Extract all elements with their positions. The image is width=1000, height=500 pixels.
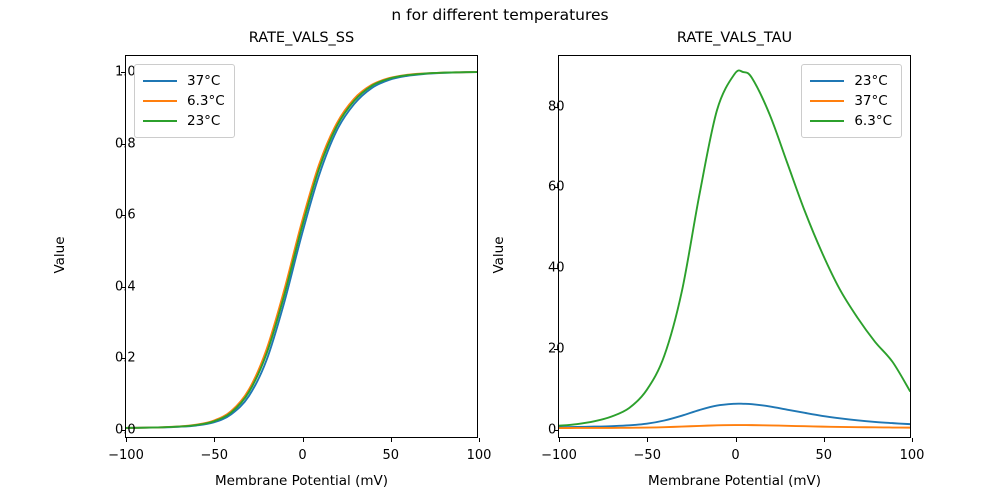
legend-entry[interactable]: 37°C: [810, 91, 892, 111]
x-tick: [303, 438, 304, 442]
legend-entry[interactable]: 6.3°C: [810, 111, 892, 131]
legend-label: 6.3°C: [854, 113, 892, 129]
x-axis-label-left: Membrane Potential (mV): [126, 473, 477, 489]
x-tick: [647, 438, 648, 442]
legend-color-swatch: [810, 100, 844, 102]
legend-entry[interactable]: 23°C: [143, 111, 225, 131]
x-tick-label: −100: [108, 448, 144, 463]
x-tick: [126, 438, 127, 442]
figure-suptitle: n for different temperatures: [0, 6, 1000, 24]
x-axis-label-right: Membrane Potential (mV): [559, 473, 910, 489]
legend-label: 23°C: [187, 113, 220, 129]
x-tick: [736, 438, 737, 442]
legend-entry[interactable]: 6.3°C: [143, 91, 225, 111]
axes-rate-vals-ss: RATE_VALS_SS −100−500501000.00.20.40.60.…: [125, 55, 478, 438]
subplot-title-left: RATE_VALS_SS: [126, 30, 477, 46]
x-tick: [912, 438, 913, 442]
legend-color-swatch: [143, 100, 177, 102]
x-tick: [559, 438, 560, 442]
legend-left[interactable]: 37°C6.3°C23°C: [134, 64, 235, 138]
legend-label: 6.3°C: [187, 93, 225, 109]
x-tick: [479, 438, 480, 442]
subplot-title-right: RATE_VALS_TAU: [559, 30, 910, 46]
legend-entry[interactable]: 37°C: [143, 71, 225, 91]
line-series-23C: [559, 404, 910, 427]
x-tick-label: 0: [298, 448, 306, 463]
legend-right[interactable]: 23°C37°C6.3°C: [801, 64, 902, 138]
x-tick-label: −50: [201, 448, 228, 463]
axes-rate-vals-tau: RATE_VALS_TAU −100−50050100020406080 Mem…: [558, 55, 911, 438]
legend-color-swatch: [143, 120, 177, 122]
legend-entry[interactable]: 23°C: [810, 71, 892, 91]
legend-color-swatch: [810, 120, 844, 122]
x-tick-label: 50: [815, 448, 832, 463]
x-tick-label: 100: [900, 448, 925, 463]
y-axis-label-right: Value: [491, 185, 507, 325]
x-tick-label: −100: [541, 448, 577, 463]
x-tick-label: 0: [731, 448, 739, 463]
legend-label: 37°C: [854, 93, 887, 109]
legend-label: 23°C: [854, 73, 887, 89]
x-tick: [214, 438, 215, 442]
x-tick-label: 100: [467, 448, 492, 463]
x-tick-label: 50: [382, 448, 399, 463]
legend-label: 37°C: [187, 73, 220, 89]
legend-color-swatch: [143, 80, 177, 82]
y-axis-label-left: Value: [52, 185, 68, 325]
x-tick: [824, 438, 825, 442]
matplotlib-figure: n for different temperatures RATE_VALS_S…: [0, 0, 1000, 500]
x-tick-label: −50: [634, 448, 661, 463]
x-tick: [391, 438, 392, 442]
legend-color-swatch: [810, 80, 844, 82]
